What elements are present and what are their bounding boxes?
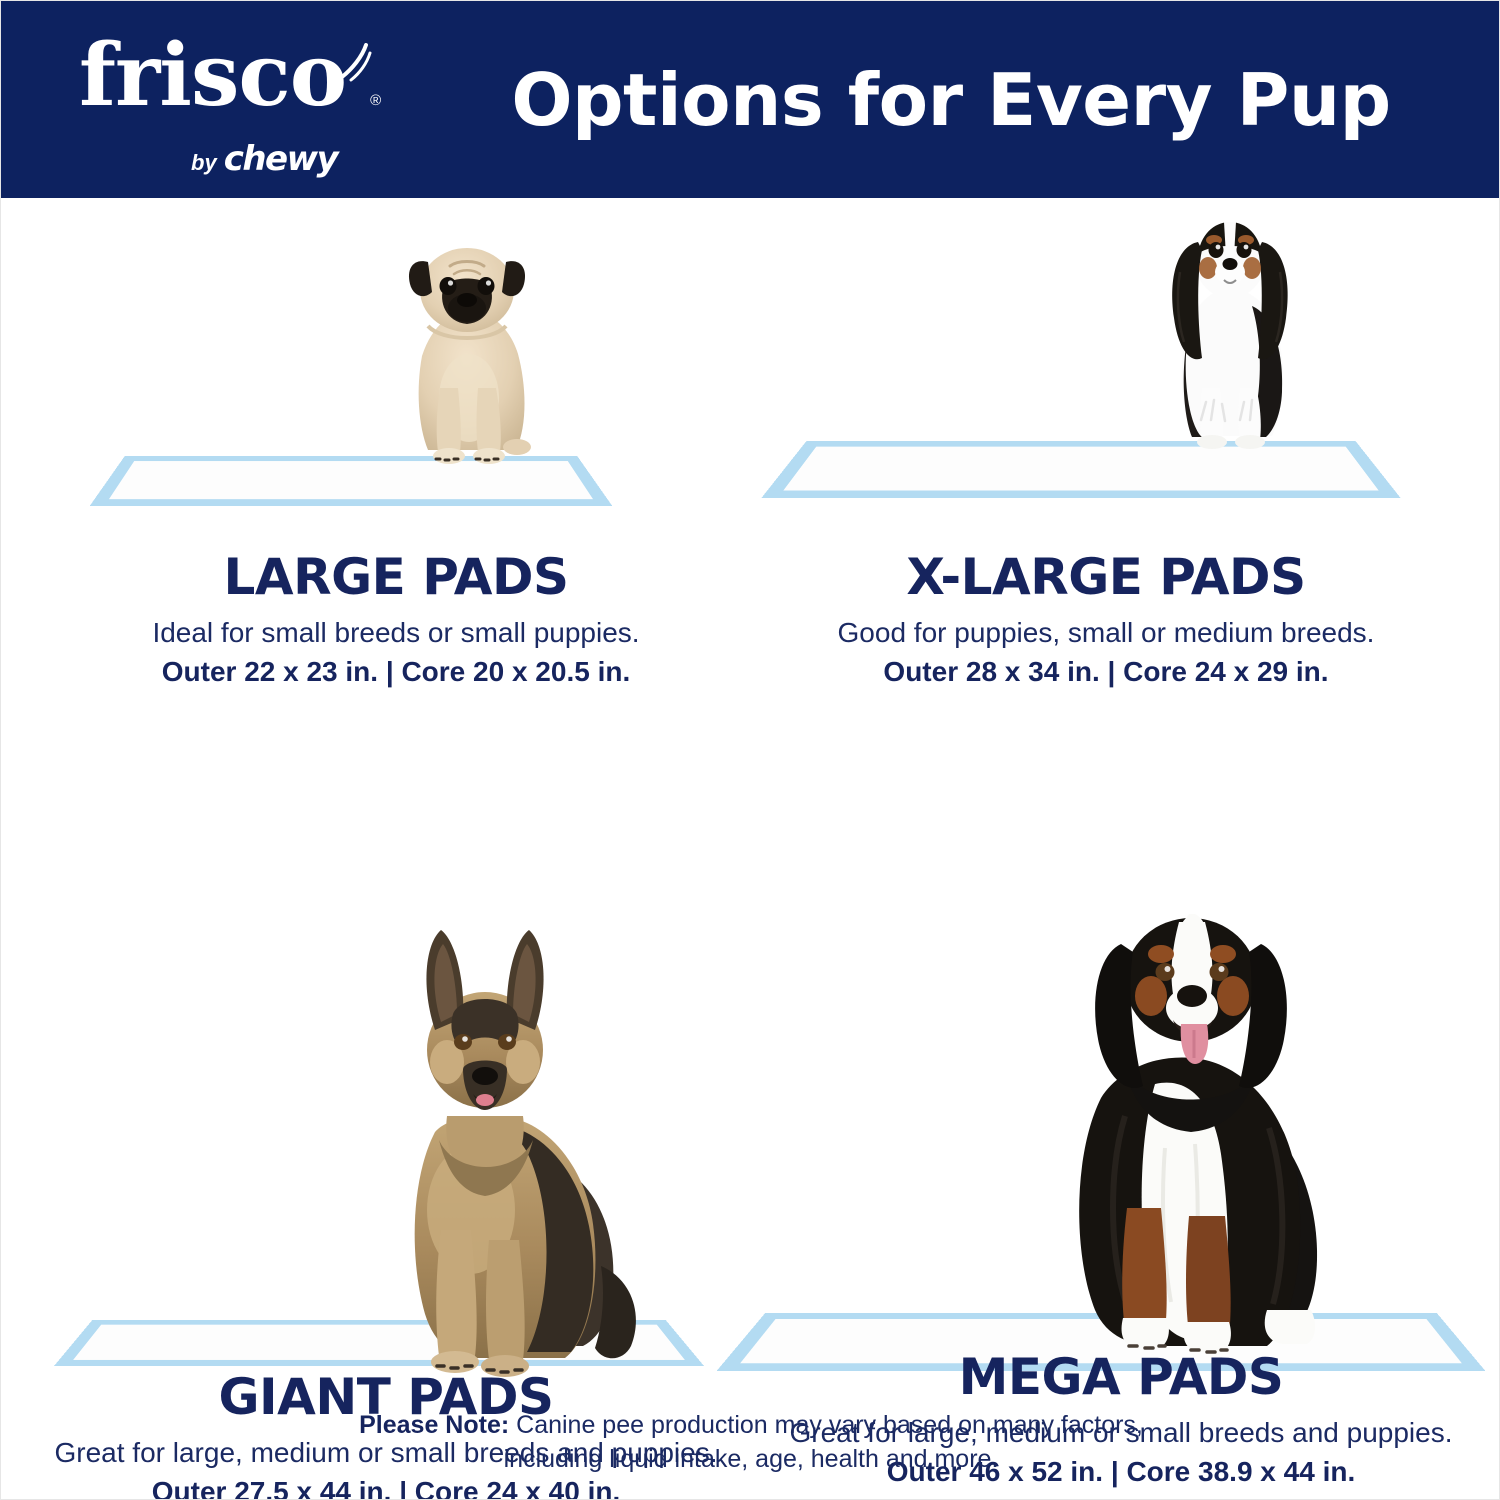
brand-wordmark-text: frisco [79, 25, 346, 126]
product-card-mega[interactable]: MEGA PADS Great for large, medium or sma… [751, 658, 1491, 1498]
dog-illustration-bernese-mountain-dog [1029, 848, 1359, 1358]
card-dimensions-giant: Outer 27.5 x 44 in. | Core 24 x 40 in. [21, 1476, 751, 1500]
brand-sub-lockup: by chewy [191, 139, 337, 179]
card-title-x-large: X-LARGE PADS [751, 548, 1461, 606]
card-title-mega: MEGA PADS [751, 1348, 1491, 1406]
pee-pad-x-large [761, 441, 1400, 498]
pee-pad-large [90, 456, 613, 506]
registered-mark-icon: ® [370, 94, 380, 108]
pad-core-x-large [783, 447, 1378, 491]
infographic-page: frisco ® by chewy Options for Every Pup [0, 0, 1500, 1500]
header-bar: frisco ® by chewy Options for Every Pup [1, 1, 1500, 198]
card-title-large: LARGE PADS [41, 548, 751, 606]
brand-wordmark-frisco: frisco ® [79, 35, 346, 117]
dog-illustration-cavalier-spaniel [1126, 206, 1326, 458]
footer-line-1-text: Canine pee production may vary based on … [509, 1411, 1143, 1439]
dog-illustration-pug [366, 238, 566, 474]
pad-core-large [109, 461, 593, 499]
footer-please-note-label: Please Note: [359, 1411, 509, 1439]
card-description-large: Ideal for small breeds or small puppies. [41, 616, 751, 650]
brand-logo: frisco ® by chewy [79, 35, 379, 165]
product-grid: LARGE PADS Ideal for small breeds or sma… [1, 198, 1500, 1500]
swoosh-icon [338, 43, 372, 83]
product-card-large[interactable]: LARGE PADS Ideal for small breeds or sma… [41, 198, 751, 698]
page-title: Options for Every Pup [431, 1, 1471, 198]
dog-illustration-german-shepherd [351, 910, 671, 1380]
pee-pad-giant [54, 1320, 704, 1366]
card-text-large: LARGE PADS Ideal for small breeds or sma… [41, 548, 751, 688]
brand-chewy-label: chewy [224, 139, 338, 179]
brand-by-label: by [191, 150, 217, 176]
product-card-x-large[interactable]: X-LARGE PADS Good for puppies, small or … [751, 198, 1461, 698]
product-card-giant[interactable]: GIANT PADS Great for large, medium or sm… [21, 688, 751, 1498]
footer-line-2: including liquid intake, age, health and… [1, 1443, 1500, 1477]
pad-core-giant [73, 1325, 685, 1360]
footer-disclaimer: Please Note: Canine pee production may v… [1, 1409, 1500, 1477]
footer-line-1: Please Note: Canine pee production may v… [1, 1409, 1500, 1443]
card-dimensions-large: Outer 22 x 23 in. | Core 20 x 20.5 in. [41, 656, 751, 688]
card-description-x-large: Good for puppies, small or medium breeds… [751, 616, 1461, 650]
